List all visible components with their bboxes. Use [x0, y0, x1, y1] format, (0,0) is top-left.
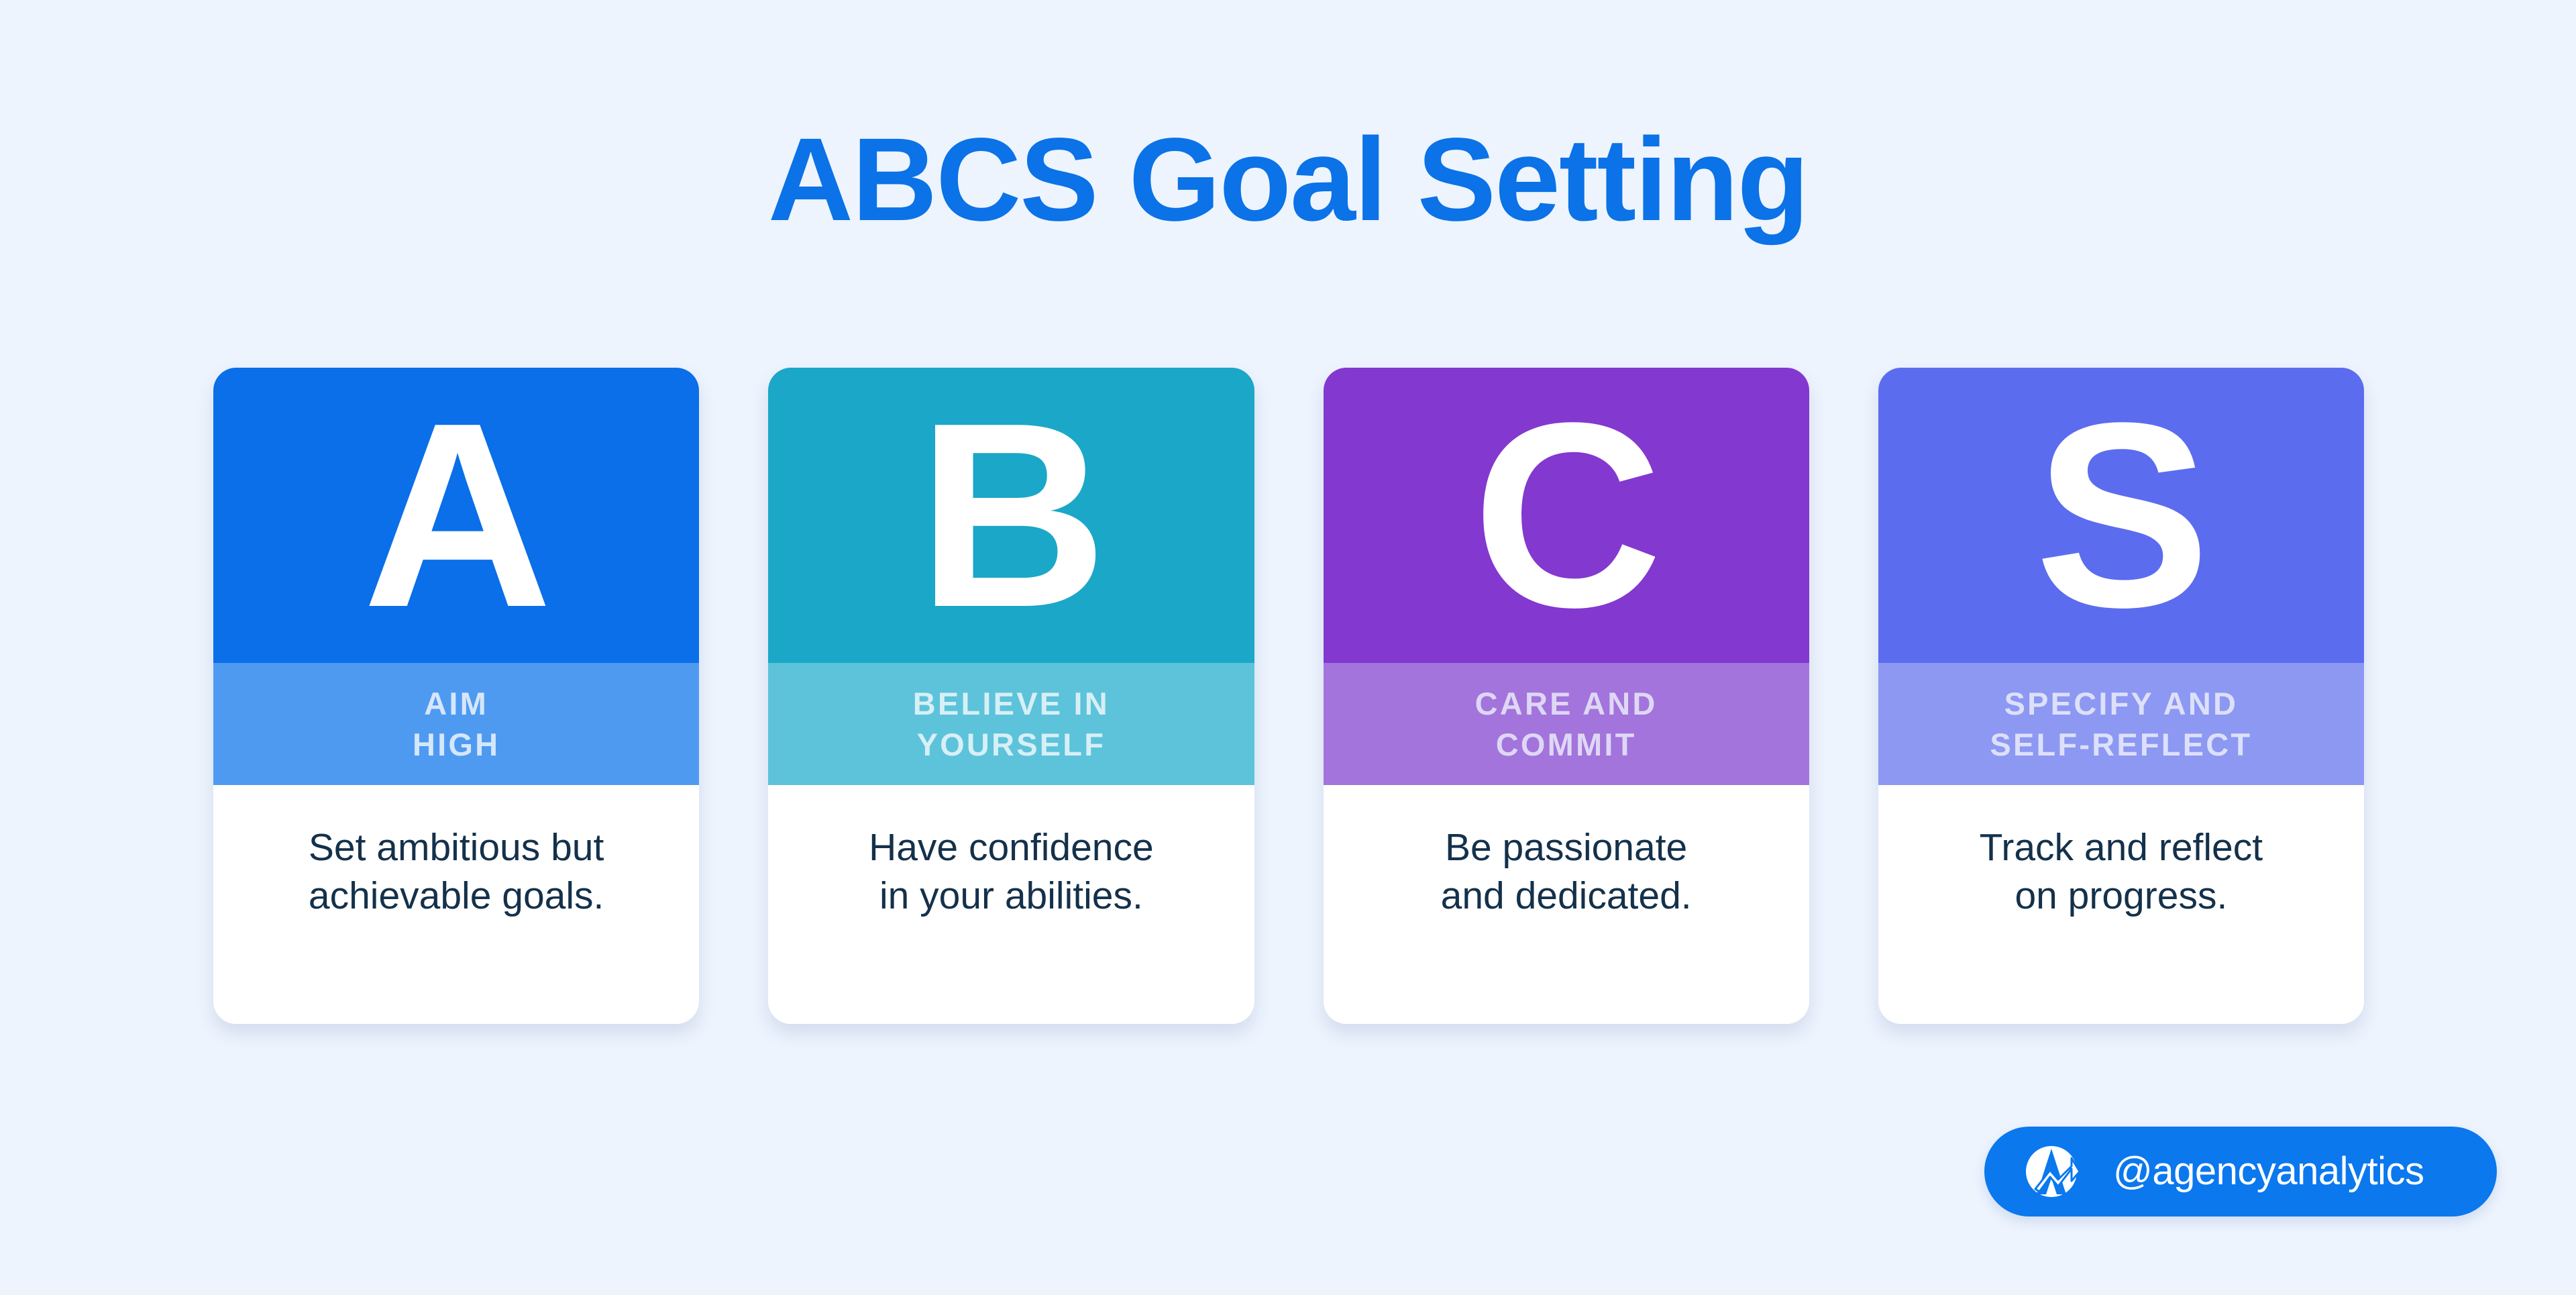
card-a-band-line2: HIGH [413, 724, 500, 765]
card-c-header: C [1324, 368, 1809, 663]
card-b-band-line1: BELIEVE IN [913, 683, 1110, 724]
card-s[interactable]: S SPECIFY AND SELF-REFLECT Track and ref… [1878, 368, 2364, 1024]
card-a-header: A [213, 368, 699, 663]
card-b-band: BELIEVE IN YOURSELF [768, 663, 1254, 785]
abcs-cards-row: A AIM HIGH Set ambitious but achievable … [213, 368, 2364, 1024]
card-b-description: Have confidence in your abilities. [869, 824, 1154, 921]
card-c-description: Be passionate and dedicated. [1441, 824, 1692, 921]
card-b-letter: B [918, 418, 1105, 613]
card-a[interactable]: A AIM HIGH Set ambitious but achievable … [213, 368, 699, 1024]
card-b-header: B [768, 368, 1254, 663]
card-b-body: Have confidence in your abilities. [768, 785, 1254, 1024]
card-s-header: S [1878, 368, 2364, 663]
card-c[interactable]: C CARE AND COMMIT Be passionate and dedi… [1324, 368, 1809, 1024]
card-a-band-line1: AIM [424, 683, 488, 724]
card-s-band: SPECIFY AND SELF-REFLECT [1878, 663, 2364, 785]
card-c-band-line1: CARE AND [1475, 683, 1658, 724]
card-s-band-line2: SELF-REFLECT [1990, 724, 2252, 765]
card-a-description: Set ambitious but achievable goals. [309, 824, 604, 921]
agency-handle-text: @agencyanalytics [2113, 1152, 2424, 1191]
card-c-band-line2: COMMIT [1496, 724, 1637, 765]
card-b-band-line2: YOURSELF [917, 724, 1106, 765]
card-a-letter: A [363, 418, 550, 613]
card-a-band: AIM HIGH [213, 663, 699, 785]
card-b[interactable]: B BELIEVE IN YOURSELF Have confidence in… [768, 368, 1254, 1024]
card-c-letter: C [1472, 418, 1660, 613]
card-s-letter: S [2035, 418, 2207, 613]
card-c-band: CARE AND COMMIT [1324, 663, 1809, 785]
card-s-body: Track and reflect on progress. [1878, 785, 2364, 1024]
agencyanalytics-logo-icon [2022, 1139, 2086, 1204]
card-s-band-line1: SPECIFY AND [2004, 683, 2239, 724]
card-s-description: Track and reflect on progress. [1980, 824, 2263, 921]
card-c-body: Be passionate and dedicated. [1324, 785, 1809, 1024]
card-a-body: Set ambitious but achievable goals. [213, 785, 699, 1024]
page-title: ABCS Goal Setting [0, 121, 2576, 239]
agency-handle-badge[interactable]: @agencyanalytics [1984, 1127, 2497, 1216]
